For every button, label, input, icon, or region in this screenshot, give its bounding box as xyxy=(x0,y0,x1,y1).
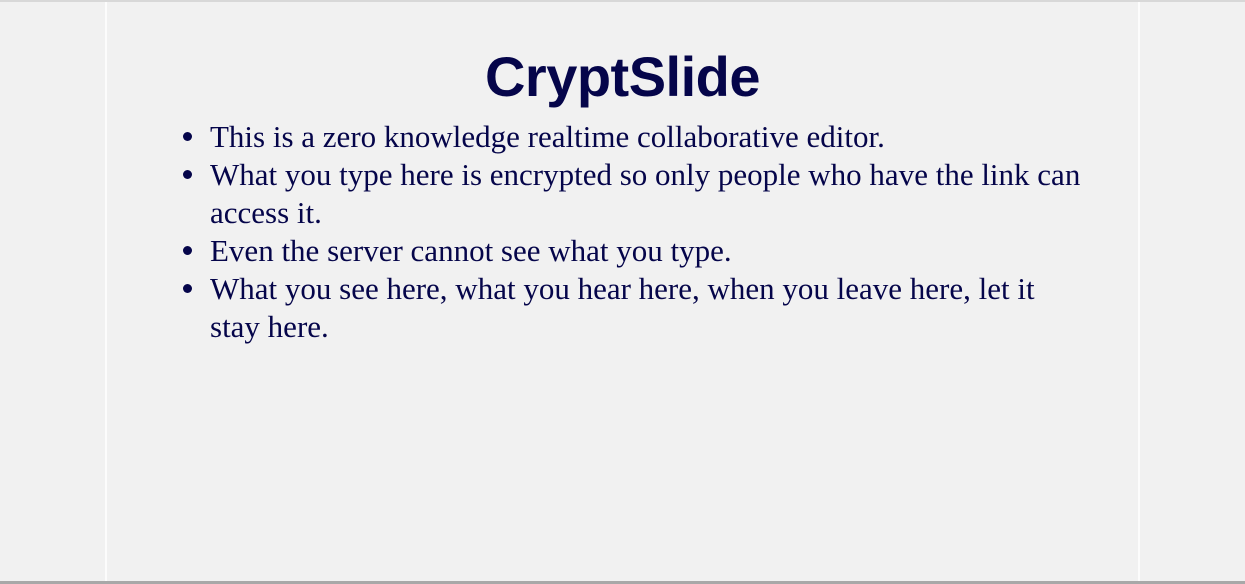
slide-title[interactable]: CryptSlide xyxy=(107,45,1138,109)
bullet-text: What you type here is encrypted so only … xyxy=(210,156,1082,232)
bullet-item[interactable]: What you type here is encrypted so only … xyxy=(179,156,1082,232)
bullet-text: What you see here, what you hear here, w… xyxy=(210,270,1082,346)
bullet-text: Even the server cannot see what you type… xyxy=(210,232,1082,270)
slide-bullet-list[interactable]: This is a zero knowledge realtime collab… xyxy=(107,118,1138,346)
slide-viewport: CryptSlide This is a zero knowledge real… xyxy=(0,0,1245,584)
bullet-item[interactable]: Even the server cannot see what you type… xyxy=(179,232,1082,270)
bullet-dot-icon xyxy=(183,132,192,141)
right-gutter xyxy=(1140,2,1245,581)
bullet-item[interactable]: What you see here, what you hear here, w… xyxy=(179,270,1082,346)
bullet-dot-icon xyxy=(183,284,192,293)
left-gutter xyxy=(0,2,105,581)
bullet-dot-icon xyxy=(183,246,192,255)
bullet-dot-icon xyxy=(183,170,192,179)
bullet-text: This is a zero knowledge realtime collab… xyxy=(210,118,1082,156)
bullet-item[interactable]: This is a zero knowledge realtime collab… xyxy=(179,118,1082,156)
slide-canvas[interactable]: CryptSlide This is a zero knowledge real… xyxy=(105,2,1140,581)
